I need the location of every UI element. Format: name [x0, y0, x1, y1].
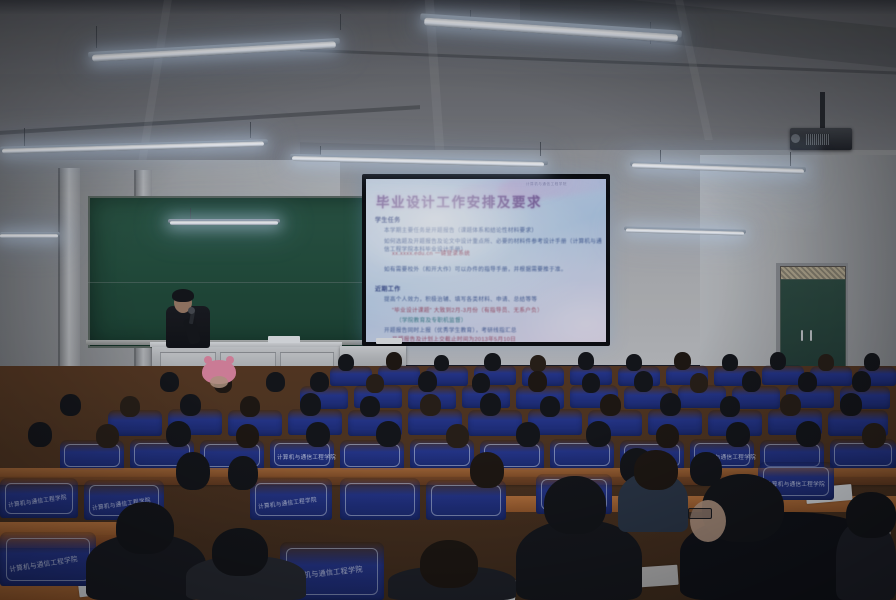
student-head: [578, 352, 594, 370]
projector-light-beam: [560, 140, 820, 230]
student-head: [418, 371, 437, 392]
student-head: [690, 373, 708, 393]
student-head: [852, 371, 871, 392]
student-head: [780, 394, 801, 416]
student-head: [840, 393, 862, 416]
projector-mount-rod: [820, 92, 825, 130]
student-head: [434, 355, 449, 371]
door-transom-window: [780, 266, 846, 280]
student-head: [530, 355, 546, 372]
student-head: [386, 352, 402, 370]
student-head: [60, 394, 81, 416]
student-head: [540, 396, 560, 417]
student-head: [236, 424, 259, 448]
student-head: [180, 394, 201, 416]
student-head: [228, 456, 258, 490]
student-head: [472, 373, 490, 393]
slide-bullet: （学院教育及专职机监督）: [396, 316, 467, 324]
student-head: [96, 424, 119, 448]
student-head: [634, 450, 678, 490]
eyeglasses-icon: [688, 508, 712, 519]
student-face: [690, 500, 726, 542]
student-head: [660, 393, 681, 416]
student-head: [770, 352, 786, 370]
student-head: [600, 394, 621, 416]
student-head: [360, 396, 380, 417]
student-head: [160, 372, 179, 392]
student-head: [516, 422, 540, 447]
student-head: [586, 421, 611, 447]
student-head: [120, 396, 140, 417]
student-head: [674, 352, 691, 370]
student-head: [446, 424, 469, 448]
student-head: [634, 371, 653, 392]
student-head: [656, 424, 679, 448]
slide-section-heading-2: 近期工作: [375, 284, 401, 293]
student-head: [582, 373, 600, 393]
student-head: [626, 354, 642, 371]
student-head: [420, 540, 478, 588]
student-head: [166, 421, 191, 447]
student-head: [862, 423, 886, 448]
student-head: [116, 502, 174, 554]
slide-bullet: 提高个人效力，积极治辅、填写各类材料、申请、总结等等: [384, 295, 537, 303]
fluorescent-tube-icon: [170, 221, 278, 225]
student-head: [742, 371, 761, 392]
door-icon[interactable]: [780, 279, 846, 370]
student-head: [420, 394, 441, 416]
student-head: [484, 353, 501, 371]
student-head: [306, 422, 330, 447]
student-head: [310, 372, 329, 392]
wall-pillar-left: [60, 168, 80, 383]
handout-paper: [639, 565, 678, 588]
student-head: [726, 422, 750, 447]
student-head: [480, 393, 501, 416]
student-head: [528, 371, 547, 392]
student-head: [240, 396, 260, 417]
podium-papers: [268, 336, 300, 343]
door-handle-icon[interactable]: [810, 330, 812, 341]
student-head: [544, 476, 606, 534]
slide-bullet: 开题报告同时上报（优秀学生教育），考研线指汇总: [384, 326, 517, 334]
student-head: [28, 422, 52, 447]
student-head: [470, 452, 504, 488]
student-head: [798, 372, 817, 392]
student-head: [722, 354, 738, 371]
student-head: [846, 492, 896, 538]
student-head: [376, 421, 401, 447]
student-head: [864, 353, 880, 371]
student-head: [176, 452, 210, 490]
slide-bullet: 开题报告及计划上交截止时间为2013年5月10日: [392, 335, 516, 342]
presenter-hair: [172, 289, 194, 302]
student-face: [210, 376, 228, 388]
student-head: [366, 374, 384, 393]
student-head: [796, 421, 821, 447]
student-head: [266, 372, 285, 392]
student-head: [212, 528, 268, 576]
door-handle-icon[interactable]: [801, 330, 803, 341]
student-head: [338, 354, 354, 371]
student-head: [818, 354, 834, 371]
student-head: [300, 393, 321, 416]
lecture-hall-photo: 计算机与通信工程学院 毕业设计工作安排及要求 学生任务 本学期主要任务是开题报告…: [0, 0, 896, 600]
fluorescent-tube-icon: [0, 234, 58, 238]
student-head: [720, 396, 740, 417]
chair-label: 计算机与通信工程学院: [277, 453, 336, 461]
